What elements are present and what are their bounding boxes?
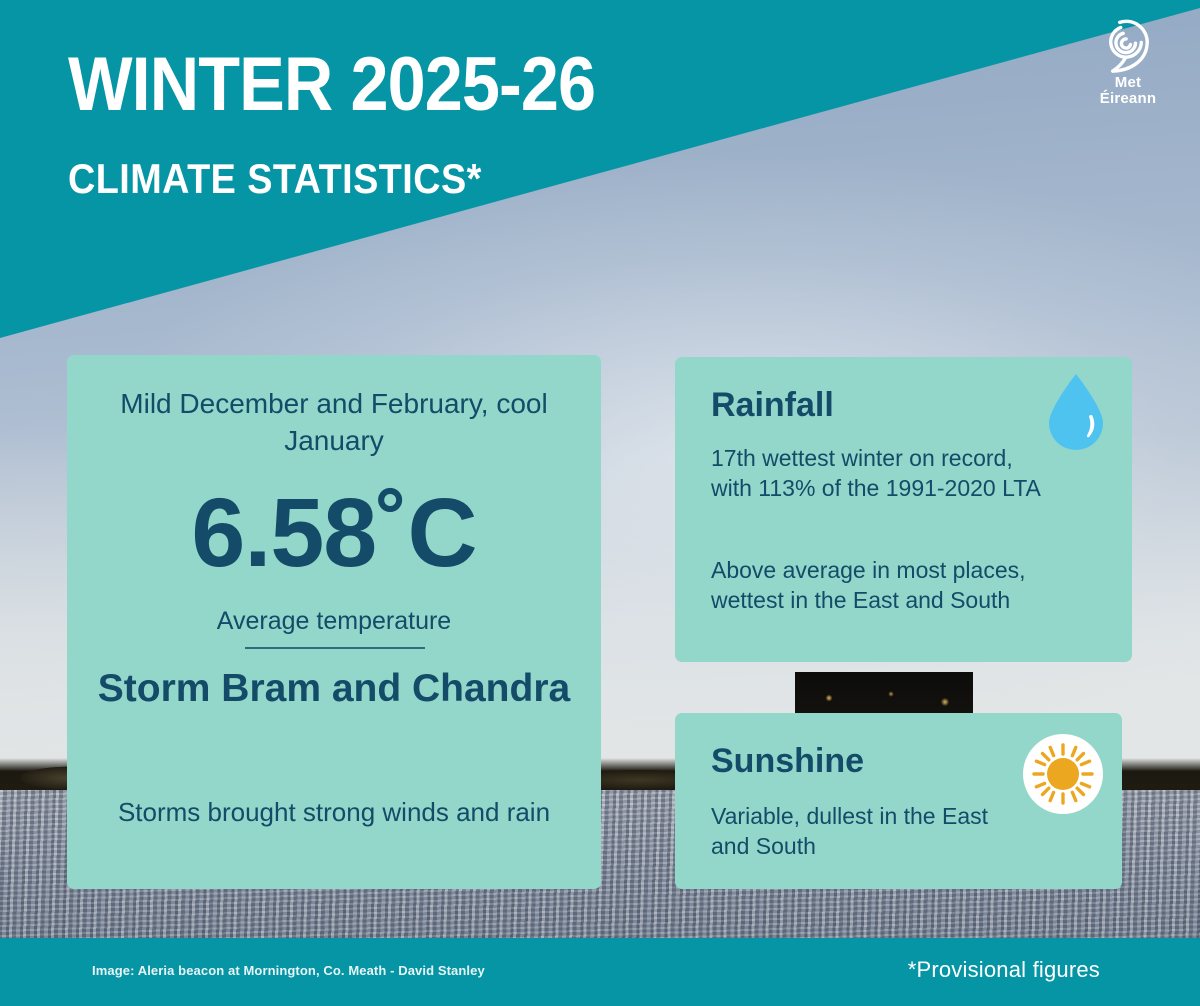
water-drop-icon — [1045, 372, 1107, 450]
image-credit: Image: Aleria beacon at Mornington, Co. … — [92, 962, 485, 980]
sunshine-paragraph-1: Variable, dullest in the East and South — [711, 801, 1031, 861]
temperature-heading: Mild December and February, cool January — [91, 385, 577, 459]
infographic-poster: WINTER 2025-26 CLIMATE STATISTICS* Met É… — [0, 0, 1200, 1006]
provisional-note: *Provisional figures — [908, 956, 1100, 984]
logo-text-line1: Met — [1115, 74, 1141, 91]
storm-description: Storms brought strong winds and rain — [97, 795, 571, 830]
page-title: WINTER 2025-26 — [68, 44, 595, 126]
logo-text-line2: Éireann — [1086, 91, 1170, 107]
spiral-swirl-icon — [1086, 16, 1170, 74]
average-temperature-caption: Average temperature — [67, 605, 601, 637]
rainfall-paragraph-1: 17th wettest winter on record, with 113%… — [711, 443, 1046, 503]
met-eireann-logo[interactable]: Met Éireann — [1086, 16, 1170, 108]
rainfall-title: Rainfall — [711, 385, 834, 425]
page-subtitle: CLIMATE STATISTICS* — [68, 155, 482, 203]
temperature-card: Mild December and February, cool January… — [67, 355, 601, 889]
rainfall-paragraph-2: Above average in most places, wettest in… — [711, 555, 1046, 615]
sunshine-card: Sunshine Variable, dullest in the East a… — [675, 713, 1122, 889]
header-text-group: WINTER 2025-26 CLIMATE STATISTICS* — [0, 0, 1200, 345]
sunshine-title: Sunshine — [711, 741, 864, 781]
average-temperature-value: 6.58˚C — [67, 480, 601, 585]
footer-bar: Image: Aleria beacon at Mornington, Co. … — [0, 938, 1200, 1006]
sun-icon — [1022, 733, 1104, 815]
rainfall-card: Rainfall 17th wettest winter on record, … — [675, 357, 1132, 662]
storm-names-title: Storm Bram and Chandra — [87, 665, 581, 713]
logo-text: Met Éireann — [1086, 75, 1170, 107]
card-divider — [245, 647, 425, 649]
